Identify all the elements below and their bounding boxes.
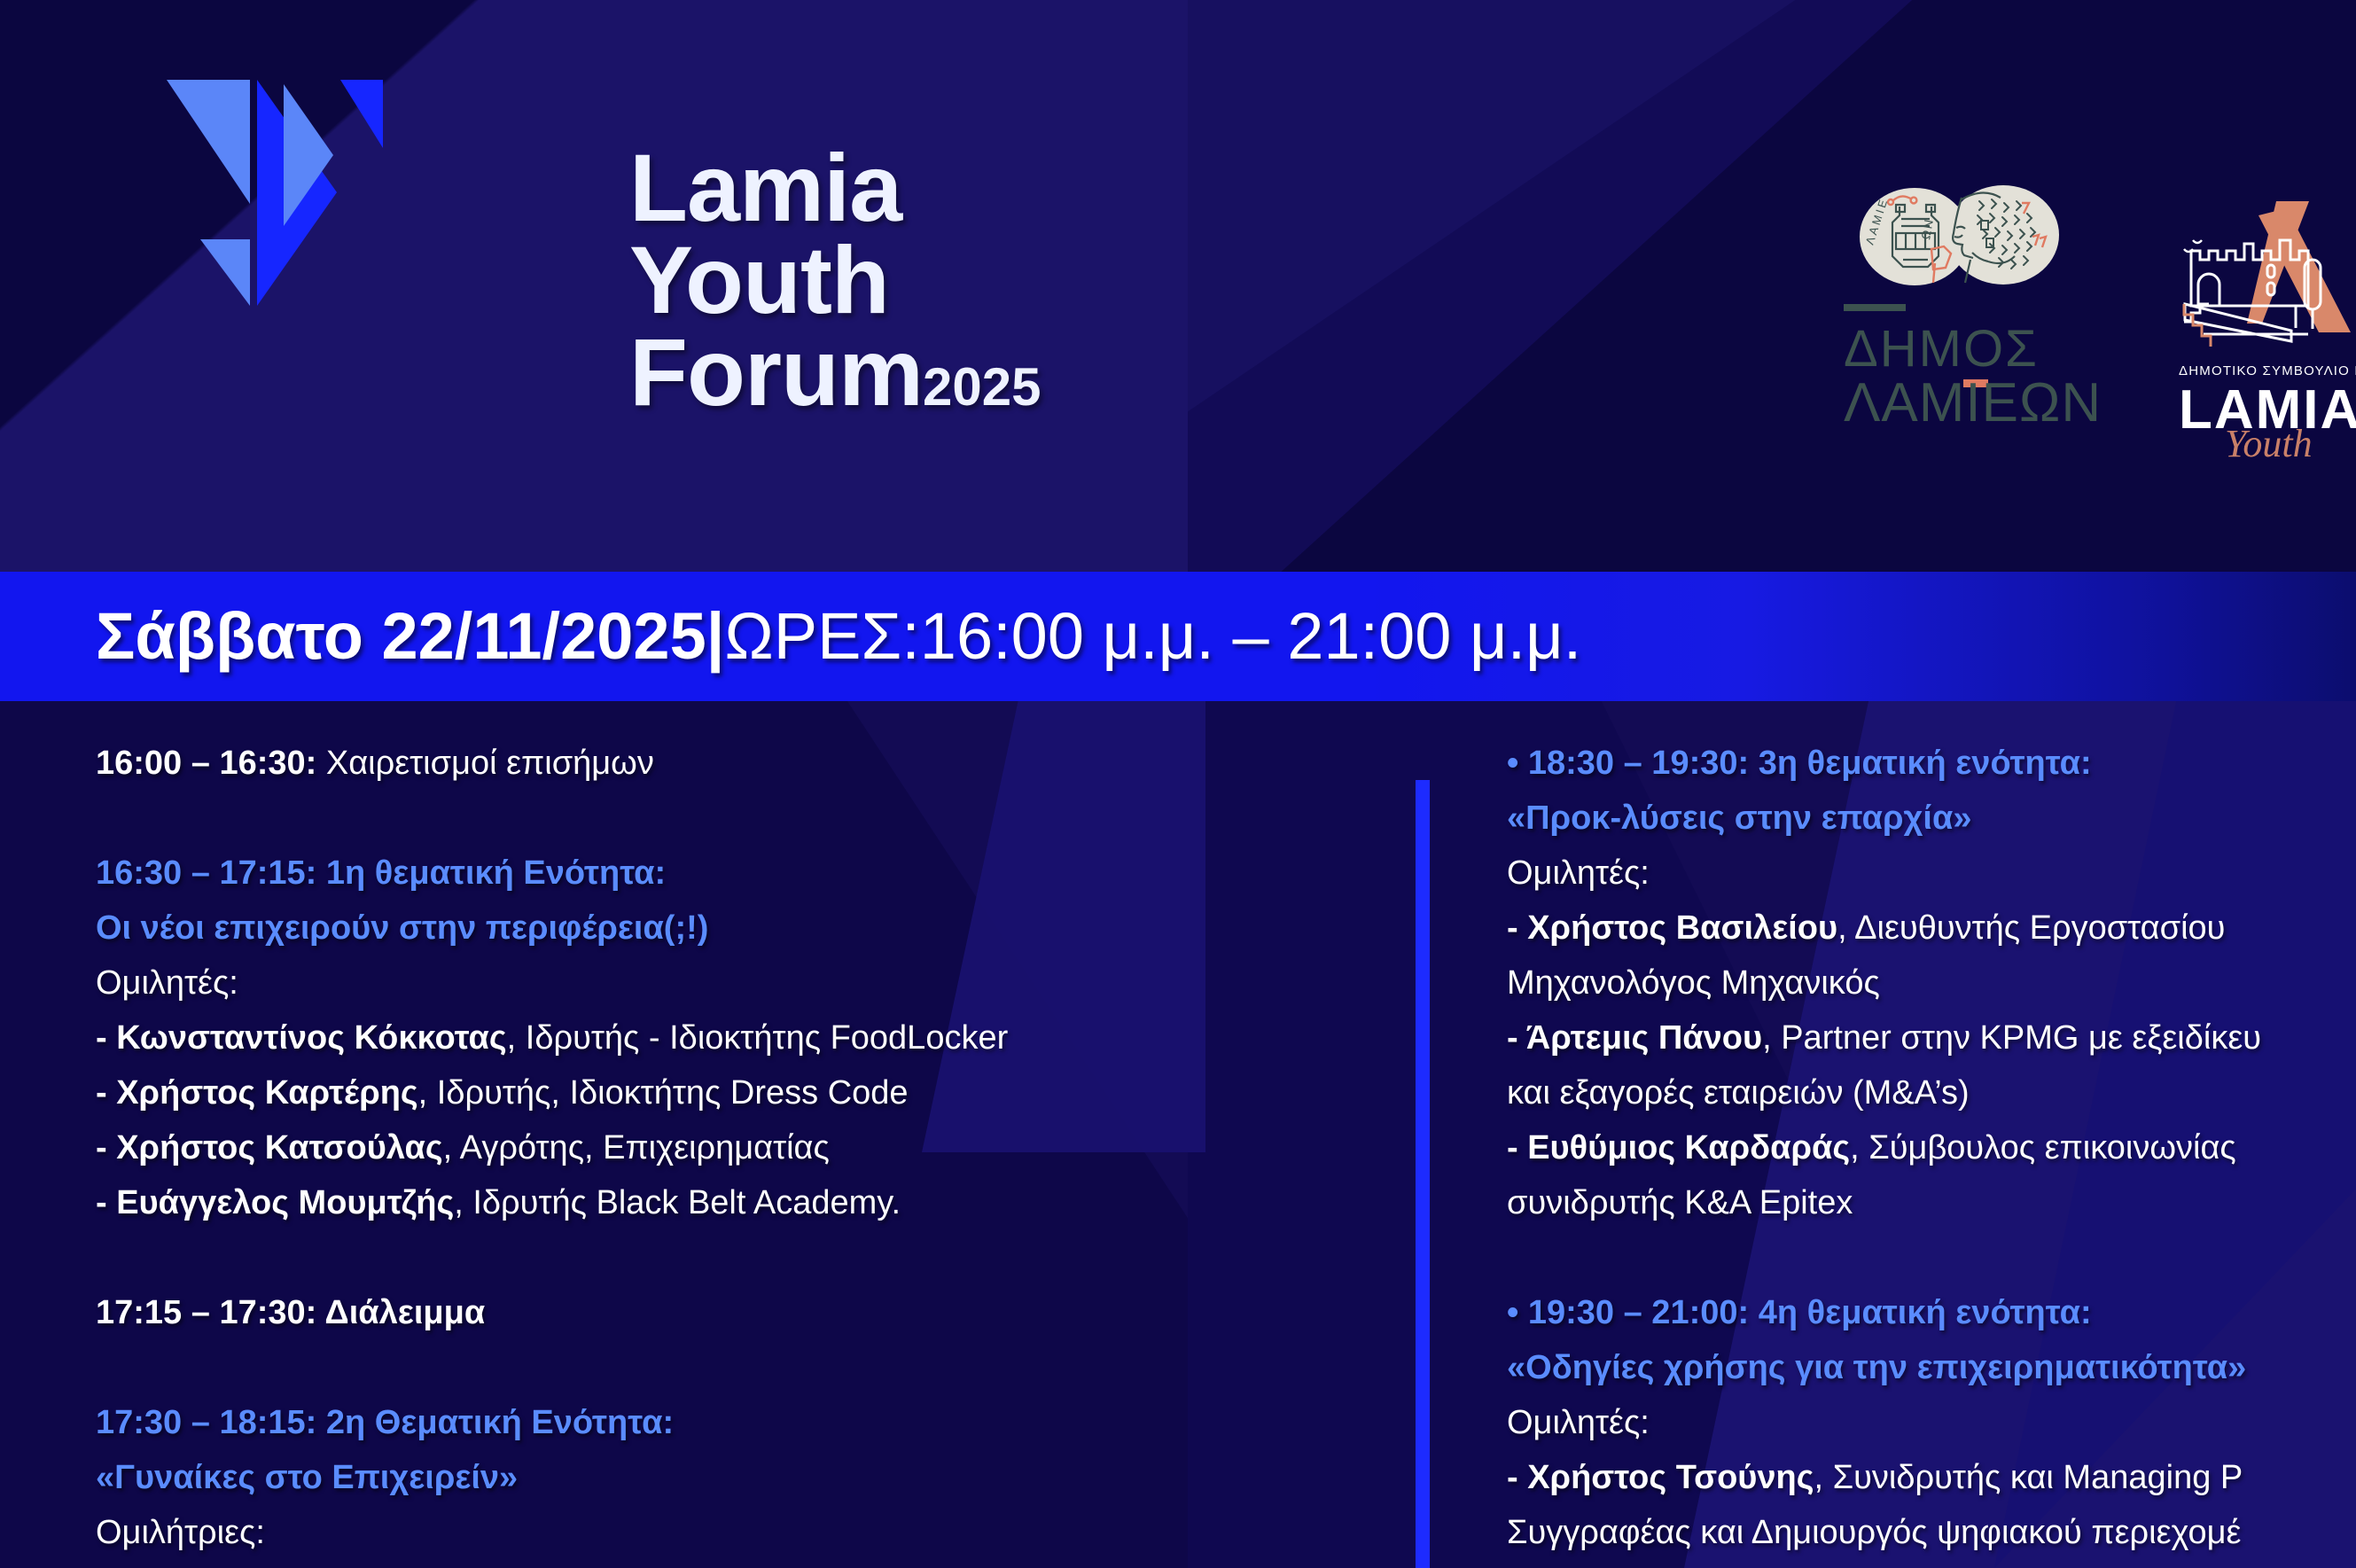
logo-line-youth: Youth (629, 234, 1041, 326)
speakers-label-text: Ομιλητές: (1507, 1404, 1650, 1441)
schedule-left-column: 16:00 – 16:30: Χαιρετισμοί επισήμων 16:3… (96, 736, 1195, 1560)
speaker-name: - Ευάγγελος Μουμτζής (96, 1184, 454, 1221)
speaker-role-cont: Συγγραφέας και Δημιουργός ψηφιακού περιε… (1507, 1514, 2241, 1551)
bullet-icon: • (1507, 745, 1518, 782)
speakers-label: Ομιλητές: (1507, 846, 2356, 901)
speakers-label-text: Ομιλητές: (96, 964, 238, 1002)
speaker-row-cont: Συγγραφέας και Δημιουργός ψηφιακού περιε… (1507, 1505, 2356, 1560)
speaker-role: , Ιδρυτής, Ιδιοκτήτης Dress Code (418, 1074, 909, 1112)
session-time: 19:30 – 21:00: 4η θεματική ενότητα: (1518, 1294, 2091, 1331)
speaker-role: , Ιδρυτής Black Belt Academy. (454, 1184, 901, 1221)
speaker-name: - Χρήστος Κατσούλας (96, 1129, 443, 1166)
dimos-lamieon-logo-icon: ΛΑΜΙΕ ΩΝ (1822, 164, 2114, 456)
spacer (96, 791, 1195, 846)
speaker-role: , Διευθυντής Εργοστασίου (1837, 909, 2225, 947)
session-heading: • 18:30 – 19:30: 3η θεματική ενότητα: (1507, 736, 2356, 791)
session-subtitle: «Οδηγίες χρήσης για την επιχειρηματικότη… (1507, 1340, 2356, 1395)
event-poster: Lamia Youth Forum2025 (0, 0, 2356, 1568)
youth-script: Youth (2225, 422, 2313, 465)
logo-wordmark: Lamia Youth Forum2025 (629, 142, 1041, 433)
banner-text: Σάββατο 22/11/2025|ΩΡΕΣ:16:00 μ.μ. – 21:… (0, 604, 1581, 669)
speaker-role: , Αγρότης, Επιχειρηματίας (443, 1129, 830, 1166)
speaker-name: - Κωνσταντίνος Κόκκοτας (96, 1019, 507, 1057)
banner-separator: | (706, 599, 725, 673)
session-time: 17:30 – 18:15: 2η Θεματική Ενότητα: (96, 1404, 674, 1441)
spacer (1507, 1230, 2356, 1285)
session-time: 18:30 – 19:30: 3η θεματική ενότητα: (1518, 745, 2091, 782)
speakers-label: Ομιλητές: (1507, 1395, 2356, 1450)
schedule-item-session-1: 16:30 – 17:15: 1η θεματική Ενότητα: Οι ν… (96, 846, 1195, 1230)
speaker-row-cont: και εξαγορές εταιρειών (M&A’s) (1507, 1065, 2356, 1120)
speakers-label-text: Ομιλητές: (1507, 854, 1650, 892)
column-divider (1416, 780, 1430, 1568)
session-subtitle-text: «Προκ-λύσεις στην επαρχία» (1507, 800, 1971, 837)
banner-hours-value: 16:00 μ.μ. – 21:00 μ.μ. (920, 599, 1582, 673)
lamia-youth-council-logo-icon: ΔΗΜΟΤΙΚΟ ΣΥΜΒΟΥΛΙΟ ΝΕΩΝ LAMIA Youth (2163, 191, 2356, 483)
session-subtitle-text: «Οδηγίες χρήσης για την επιχειρηματικότη… (1507, 1349, 2246, 1386)
spacer (96, 1340, 1195, 1395)
spacer (96, 1230, 1195, 1285)
schedule-line: 17:15 – 17:30: Διάλειμμα (96, 1285, 1195, 1340)
schedule-item-welcome: 16:00 – 16:30: Χαιρετισμοί επισήμων (96, 736, 1195, 791)
speaker-name: - Χρήστος Βασιλείου (1507, 909, 1837, 947)
bullet-icon: • (1507, 1294, 1518, 1331)
schedule-item-session-2: 17:30 – 18:15: 2η Θεματική Ενότητα: «Γυν… (96, 1395, 1195, 1560)
schedule-right-column: • 18:30 – 19:30: 3η θεματική ενότητα: «Π… (1507, 736, 2356, 1560)
session-heading: 16:30 – 17:15: 1η θεματική Ενότητα: (96, 846, 1195, 901)
youth-kicker: ΔΗΜΟΤΙΚΟ ΣΥΜΒΟΥΛΙΟ ΝΕΩΝ (2179, 363, 2356, 378)
schedule-line: 16:00 – 16:30: Χαιρετισμοί επισήμων (96, 736, 1195, 791)
lamia-youth-forum-arrow-mark-icon (151, 49, 408, 306)
speaker-role: , Partner στην KPMG με εξειδίκευ (1762, 1019, 2261, 1057)
logo-line-forum: Forum2025 (629, 326, 1041, 433)
session-subtitle: «Προκ-λύσεις στην επαρχία» (1507, 791, 2356, 846)
speaker-role: , Συνιδρυτής και Managing P (1814, 1459, 2243, 1496)
logo-forum-text: Forum (629, 318, 923, 425)
speaker-row: - Χρήστος Καρτέρης, Ιδρυτής, Ιδιοκτήτης … (96, 1065, 1195, 1120)
schedule-item-session-3: • 18:30 – 19:30: 3η θεματική ενότητα: «Π… (1507, 736, 2356, 1230)
speaker-name: - Χρήστος Τσούνης (1507, 1459, 1814, 1496)
session-time: 17:15 – 17:30: Διάλειμμα (96, 1294, 485, 1331)
speakers-label: Ομιλήτριες: (96, 1505, 1195, 1560)
speaker-name: - Ευθύμιος Καρδαράς (1507, 1129, 1850, 1166)
speaker-row: - Άρτεμις Πάνου, Partner στην KPMG με εξ… (1507, 1010, 2356, 1065)
logo-line-lamia: Lamia (629, 142, 1041, 234)
speaker-row: - Ευθύμιος Καρδαράς, Σύμβουλος επικοινων… (1507, 1120, 2356, 1175)
schedule-item-session-4: • 19:30 – 21:00: 4η θεματική ενότητα: «Ο… (1507, 1285, 2356, 1560)
session-subtitle: Οι νέοι επιχειρούν στην περιφέρεια(;!) (96, 901, 1195, 956)
logo-year: 2025 (923, 357, 1041, 417)
speaker-row: - Χρήστος Τσούνης, Συνιδρυτής και Managi… (1507, 1450, 2356, 1505)
session-subtitle: «Γυναίκες στο Επιχειρείν» (96, 1450, 1195, 1505)
speaker-role-cont: συνιδρυτής K&A Epitex (1507, 1184, 1853, 1221)
session-subtitle-text: Οι νέοι επιχειρούν στην περιφέρεια(;!) (96, 909, 708, 947)
speakers-label: Ομιλητές: (96, 956, 1195, 1010)
speaker-row: - Κωνσταντίνος Κόκκοτας, Ιδρυτής - Ιδιοκ… (96, 1010, 1195, 1065)
speaker-row: - Χρήστος Κατσούλας, Αγρότης, Επιχειρημα… (96, 1120, 1195, 1175)
session-time: 16:00 – 16:30: (96, 745, 316, 782)
session-title: Χαιρετισμοί επισήμων (316, 745, 654, 782)
speaker-row: - Ευάγγελος Μουμτζής, Ιδρυτής Black Belt… (96, 1175, 1195, 1230)
dimos-line1: ΔΗΜΟΣ (1844, 320, 2039, 378)
dimos-line2: ΛΑΜΙΕΩΝ (1844, 372, 2102, 433)
speaker-role-cont: και εξαγορές εταιρειών (M&A’s) (1507, 1074, 1970, 1112)
session-subtitle-text: «Γυναίκες στο Επιχειρείν» (96, 1459, 518, 1496)
poster-header: Lamia Youth Forum2025 (0, 0, 2356, 572)
session-heading: • 19:30 – 21:00: 4η θεματική ενότητα: (1507, 1285, 2356, 1340)
speaker-row-cont: Μηχανολόγος Μηχανικός (1507, 956, 2356, 1010)
speaker-row: - Χρήστος Βασιλείου, Διευθυντής Εργοστασ… (1507, 901, 2356, 956)
speaker-row-cont: συνιδρυτής K&A Epitex (1507, 1175, 2356, 1230)
speaker-name: - Άρτεμις Πάνου (1507, 1019, 1762, 1057)
speaker-role: , Σύμβουλος επικοινωνίας (1850, 1129, 2236, 1166)
session-time: 16:30 – 17:15: 1η θεματική Ενότητα: (96, 854, 666, 892)
date-time-banner: Σάββατο 22/11/2025|ΩΡΕΣ:16:00 μ.μ. – 21:… (0, 572, 2356, 701)
banner-date: Σάββατο 22/11/2025 (96, 599, 706, 673)
speaker-role: , Ιδρυτής - Ιδιοκτήτης FoodLocker (507, 1019, 1009, 1057)
speakers-label-text: Ομιλήτριες: (96, 1514, 265, 1551)
schedule-item-break: 17:15 – 17:30: Διάλειμμα (96, 1285, 1195, 1340)
speaker-role-cont: Μηχανολόγος Μηχανικός (1507, 964, 1880, 1002)
banner-hours-label: ΩΡΕΣ: (724, 599, 919, 673)
session-heading: 17:30 – 18:15: 2η Θεματική Ενότητα: (96, 1395, 1195, 1450)
speaker-name: - Χρήστος Καρτέρης (96, 1074, 418, 1112)
